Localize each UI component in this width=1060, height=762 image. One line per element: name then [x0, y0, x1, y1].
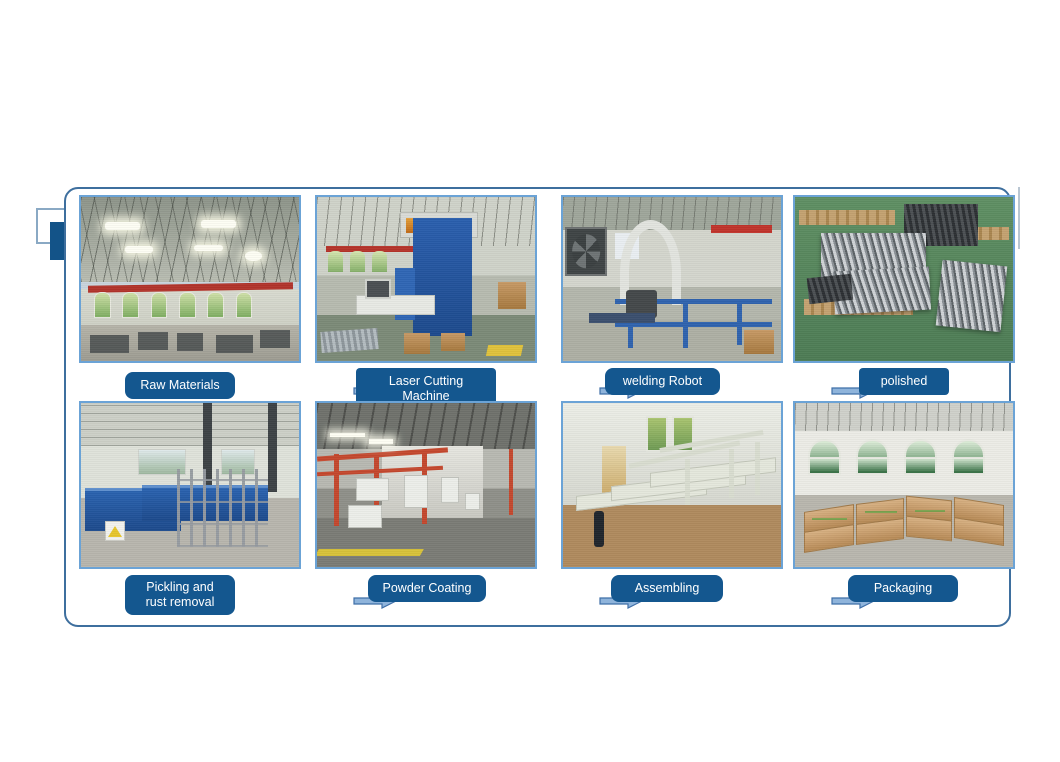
workflow-row-2: Pickling and rust removal: [66, 401, 1013, 606]
workflow-row-1: Raw Materials: [66, 195, 1013, 400]
workflow-container: Raw Materials: [64, 187, 1011, 627]
step-label-powder-coating[interactable]: Powder Coating: [368, 575, 486, 602]
brand-divider: [1018, 187, 1020, 249]
step-label-raw-materials[interactable]: Raw Materials: [125, 372, 235, 399]
workflow-step-pickling-and-rust-removal[interactable]: Pickling and rust removal: [79, 401, 301, 606]
photo-powder-coating-line: [315, 401, 537, 569]
photo-packaged-cartons-warehouse: [793, 401, 1015, 569]
workflow-step-assembling[interactable]: Assembling: [561, 401, 783, 606]
header: Production Workflow Chart TOPMOST: [0, 95, 1060, 180]
photo-pickling-tanks: [79, 401, 301, 569]
slide-canvas: Production Workflow Chart TOPMOST: [0, 0, 1060, 762]
workflow-step-polished[interactable]: polished: [793, 195, 1015, 400]
workflow-step-packaging[interactable]: Packaging: [793, 401, 1015, 606]
photo-laser-cutting-machine: [315, 195, 537, 363]
workflow-step-raw-materials[interactable]: Raw Materials: [79, 195, 301, 400]
photo-welding-robot-cell: [561, 195, 783, 363]
photo-polished-metal-parts-stacks: [793, 195, 1015, 363]
workflow-step-powder-coating[interactable]: Powder Coating: [315, 401, 537, 606]
step-label-assembling[interactable]: Assembling: [611, 575, 723, 602]
step-label-pickling-and-rust-removal[interactable]: Pickling and rust removal: [125, 575, 235, 615]
photo-factory-workshop-interior: [79, 195, 301, 363]
workflow-step-welding-robot[interactable]: welding Robot: [561, 195, 783, 400]
step-label-polished[interactable]: polished: [859, 368, 949, 395]
workflow-step-laser-cutting-machine[interactable]: Laser Cutting Machine: [315, 195, 537, 400]
step-label-welding-robot[interactable]: welding Robot: [605, 368, 720, 395]
step-label-packaging[interactable]: Packaging: [848, 575, 958, 602]
photo-assembly-workbenches: [561, 401, 783, 569]
